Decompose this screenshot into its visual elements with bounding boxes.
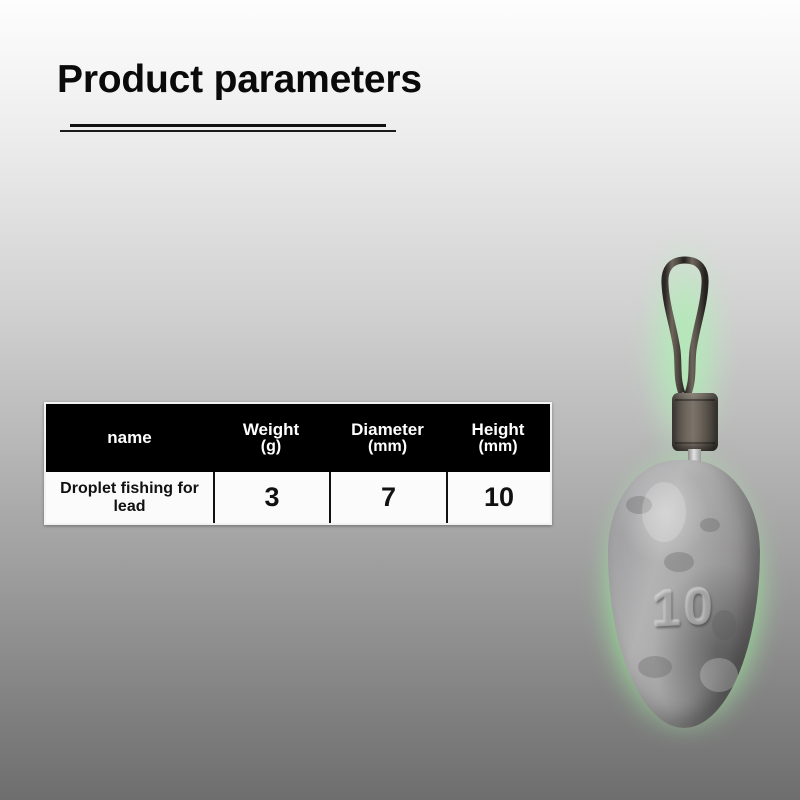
product-photo: 10 bbox=[568, 228, 800, 758]
title-underline-upper bbox=[70, 124, 386, 127]
cell-height: 10 bbox=[446, 472, 550, 523]
cell-diameter: 7 bbox=[329, 472, 446, 523]
product-parameters-table: name Weight (g) Diameter (mm) Height (mm… bbox=[44, 402, 552, 525]
column-header-weight-unit: (g) bbox=[243, 439, 299, 456]
column-header-diameter-label: Diameter bbox=[351, 420, 424, 439]
column-header-name: name bbox=[46, 404, 213, 472]
page-title: Product parameters bbox=[57, 58, 422, 103]
column-header-diameter-unit: (mm) bbox=[351, 439, 424, 456]
page-canvas: Product parameters name Weight (g) Diame… bbox=[0, 0, 800, 800]
lead-weight-emboss-label: 10 bbox=[608, 574, 760, 642]
column-header-height-label: Height bbox=[472, 420, 525, 439]
column-header-height: Height (mm) bbox=[446, 404, 550, 472]
barrel-swivel-icon bbox=[672, 393, 718, 451]
table-row: Droplet fishing for lead 3 7 10 bbox=[44, 472, 552, 525]
column-header-name-label: name bbox=[107, 429, 151, 447]
cell-weight: 3 bbox=[213, 472, 329, 523]
column-header-weight: Weight (g) bbox=[213, 404, 329, 472]
column-header-diameter: Diameter (mm) bbox=[329, 404, 446, 472]
table-header-row: name Weight (g) Diameter (mm) Height (mm… bbox=[44, 402, 552, 472]
title-underline-lower bbox=[60, 130, 396, 132]
column-header-height-unit: (mm) bbox=[472, 439, 525, 456]
cell-product-name: Droplet fishing for lead bbox=[46, 472, 213, 523]
column-header-weight-label: Weight bbox=[243, 420, 299, 439]
